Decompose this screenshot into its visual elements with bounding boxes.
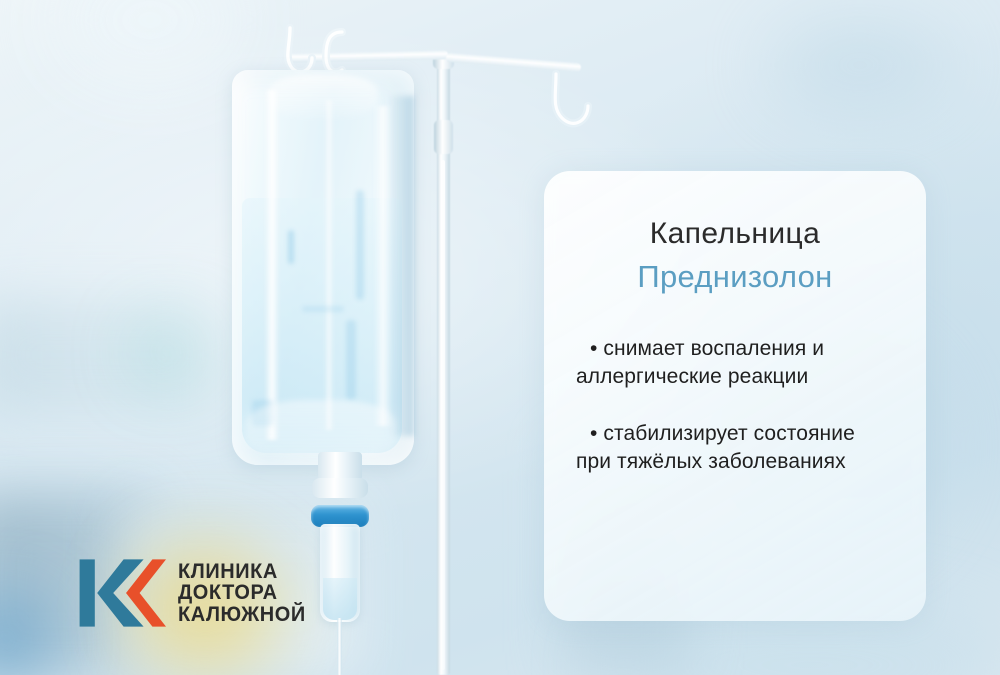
benefit-list-item-1: • снимает воспаления и аллергические реа… <box>576 335 892 390</box>
drip-chamber-fluid <box>323 578 357 620</box>
benefit-text-2: стабилизирует состояние при тяжёлых забо… <box>576 422 855 473</box>
card-title-drug: Преднизолон <box>570 257 900 297</box>
iv-pole-collar-lower <box>434 120 453 154</box>
logo-line-2: ДОКТОРА <box>178 582 306 603</box>
benefit-text-1: снимает воспаления и аллергические реакц… <box>576 337 824 388</box>
iv-pole-highlight <box>441 160 445 670</box>
logo-line-1: КЛИНИКА <box>178 561 306 582</box>
advertisement-banner: Капельница Преднизолон • снимает воспале… <box>0 0 1000 675</box>
iv-port-collar <box>312 478 368 498</box>
iv-hook-right-icon <box>548 70 618 160</box>
info-card: Капельница Преднизолон • снимает воспале… <box>544 171 926 621</box>
clinic-logo: КЛИНИКА ДОКТОРА КАЛЮЖНОЙ <box>78 553 312 633</box>
logo-line-3: КАЛЮЖНОЙ <box>178 604 306 625</box>
iv-tube <box>337 618 342 675</box>
benefit-list: • снимает воспаления и аллергические реа… <box>570 335 900 476</box>
bullet-marker-icon: • <box>590 337 597 360</box>
clinic-logo-text: КЛИНИКА ДОКТОРА КАЛЮЖНОЙ <box>178 561 312 625</box>
iv-fluid-bag <box>228 70 428 480</box>
bullet-marker-icon: • <box>590 422 597 445</box>
benefit-list-item-2: • стабилизирует состояние при тяжёлых за… <box>576 420 892 475</box>
double-chevron-k-icon <box>78 553 166 633</box>
card-title-main: Капельница <box>570 215 900 253</box>
